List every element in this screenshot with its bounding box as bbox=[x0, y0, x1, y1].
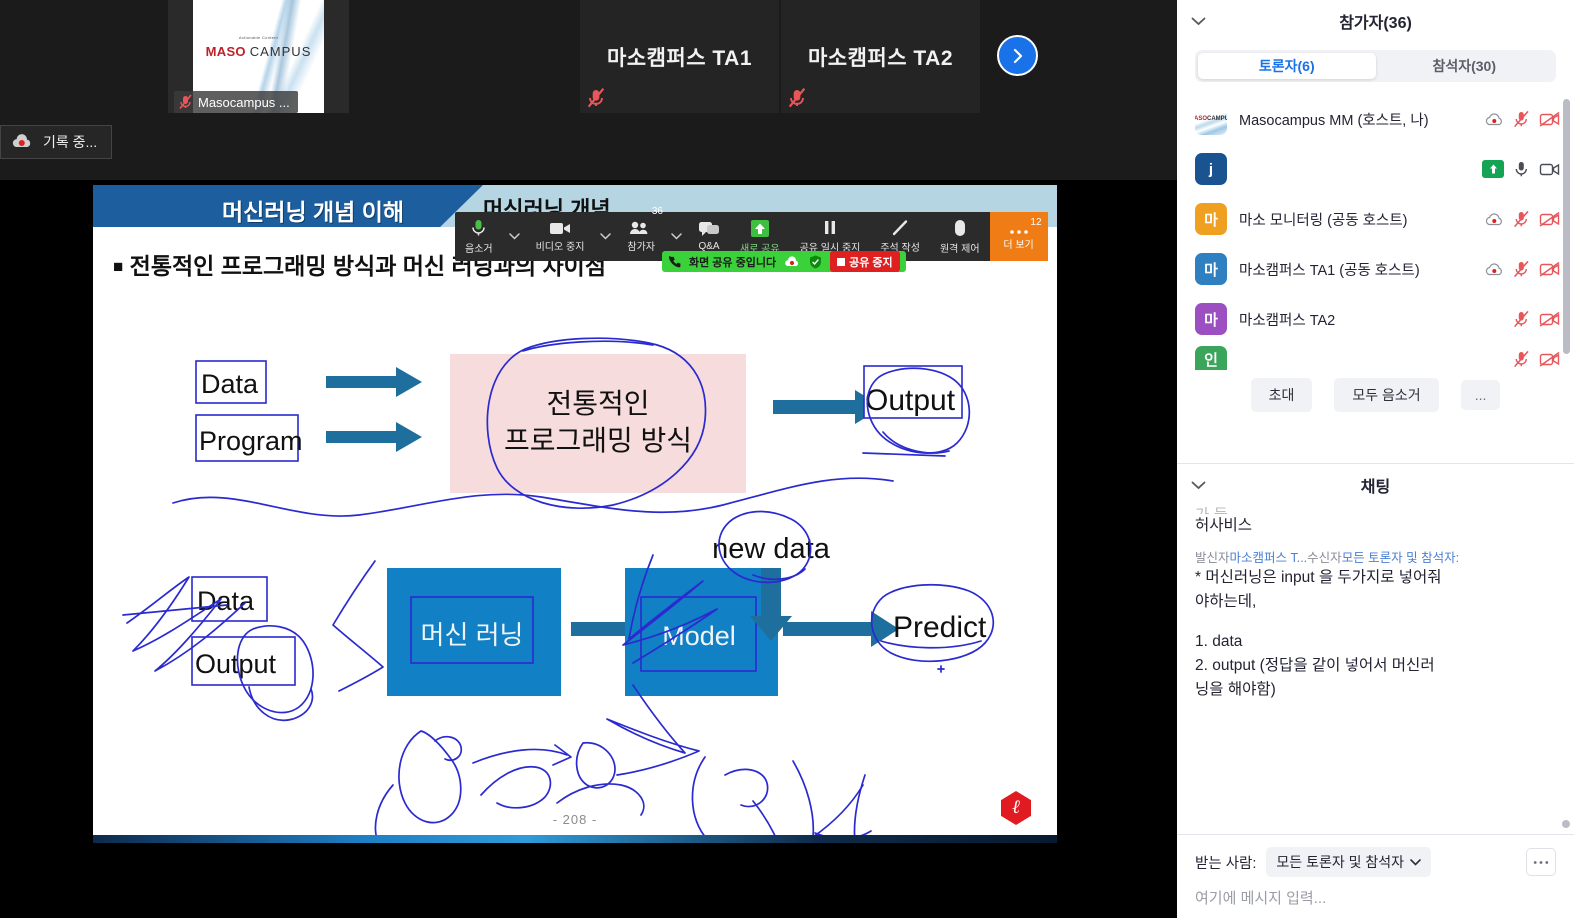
video-tile-ta1[interactable]: 마소캠퍼스 TA1 bbox=[580, 0, 779, 113]
share-status-text: 화면 공유 중입니다 bbox=[689, 254, 776, 270]
stop-share-label: 공유 중지 bbox=[849, 254, 893, 270]
chat-scrollbar[interactable] bbox=[1562, 820, 1570, 828]
microphone-icon bbox=[470, 218, 487, 238]
camera-icon[interactable] bbox=[1539, 161, 1560, 177]
participants-list[interactable]: MASOCAMPUS Masocampus MM (호스트, 나) bbox=[1177, 94, 1574, 370]
participant-name: 마소캠퍼스 TA2 bbox=[1239, 309, 1501, 330]
chat-recipient-dropdown[interactable]: 모든 토론자 및 참석자 bbox=[1266, 847, 1431, 877]
svg-text:Data: Data bbox=[201, 369, 259, 399]
chevron-down-icon bbox=[1191, 481, 1206, 490]
ellipsis-icon bbox=[1533, 860, 1549, 865]
video-tile-name: Masocampus ... bbox=[198, 95, 290, 110]
avatar-initial: 마 bbox=[1204, 209, 1218, 230]
mic-muted-icon bbox=[787, 87, 807, 109]
camera-off-icon[interactable] bbox=[1539, 211, 1560, 227]
chat-body-line-1: * 머신러닝은 input 을 두가지로 넣어줘 bbox=[1195, 566, 1556, 590]
mic-muted-icon[interactable] bbox=[1513, 310, 1530, 328]
chat-body-line-2: 야하는데, bbox=[1195, 590, 1556, 614]
video-filmstrip: Actionable Content MASO CAMPUS Masocampu… bbox=[0, 0, 1177, 180]
zoom-meeting-window: Actionable Content MASO CAMPUS Masocampu… bbox=[0, 0, 1574, 918]
screen-share-status-bar: 화면 공유 중입니다 공유 중지 bbox=[662, 251, 906, 272]
shared-slide: 머신러닝 개념 이해 머신러닝 개념 ■ 전통적인 프로그래밍 방식과 머신 러… bbox=[93, 185, 1057, 843]
chat-clipped-line: 가 들 bbox=[1195, 506, 1556, 514]
participants-tabs: 토론자(6) 참석자(30) bbox=[1195, 50, 1556, 82]
chat-collapse-button[interactable] bbox=[1191, 477, 1206, 495]
video-tile-name: 마소캠퍼스 TA2 bbox=[808, 42, 953, 72]
logo-wordmark: MASO CAMPUS bbox=[193, 44, 324, 59]
svg-text:프로그래밍 방식: 프로그래밍 방식 bbox=[504, 425, 692, 456]
stop-share-button[interactable]: 공유 중지 bbox=[830, 251, 900, 272]
meeting-area: Actionable Content MASO CAMPUS Masocampu… bbox=[0, 0, 1177, 918]
svg-text:Model: Model bbox=[662, 621, 736, 651]
participants-more-button[interactable]: ... bbox=[1461, 380, 1501, 410]
svg-text:Output: Output bbox=[195, 649, 277, 679]
toolbar-label: 원격 제어 bbox=[940, 240, 980, 255]
chat-more-button[interactable] bbox=[1526, 848, 1556, 876]
toolbar-label: 참가자 bbox=[627, 238, 655, 253]
chevron-down-icon bbox=[1410, 859, 1421, 866]
ellipsis-icon bbox=[1008, 228, 1030, 236]
filmstrip-next-button[interactable] bbox=[997, 35, 1038, 76]
chat-message: 허사비스 bbox=[1195, 514, 1556, 538]
participant-icons bbox=[1513, 310, 1560, 328]
chat-message-list[interactable]: 가 들 허사비스 발신자마소캠퍼스 T...수신자모든 토론자 및 참석자: *… bbox=[1177, 506, 1574, 834]
shield-icon bbox=[809, 255, 822, 269]
mute-all-button[interactable]: 모두 음소거 bbox=[1334, 378, 1438, 412]
avatar-initial: j bbox=[1209, 161, 1213, 178]
participant-row[interactable]: 마 마소캠퍼스 TA2 bbox=[1177, 294, 1574, 344]
mic-muted-icon[interactable] bbox=[1513, 110, 1530, 128]
video-tile-self[interactable]: Actionable Content MASO CAMPUS Masocampu… bbox=[168, 0, 349, 113]
invite-button[interactable]: 초대 bbox=[1251, 378, 1313, 412]
mouse-icon bbox=[953, 219, 967, 238]
mic-muted-icon bbox=[586, 87, 606, 109]
avatar: 마 bbox=[1195, 253, 1227, 285]
svg-text:Predict: Predict bbox=[893, 611, 987, 644]
chevron-down-icon bbox=[509, 233, 520, 240]
mic-icon[interactable] bbox=[1513, 160, 1530, 178]
chat-input[interactable]: 여기에 메시지 입력... bbox=[1195, 887, 1556, 908]
phone-icon bbox=[668, 255, 681, 268]
side-panel: 참가자(36) 토론자(6) 참석자(30) MASOCAMPUS Masoca… bbox=[1177, 0, 1574, 918]
cloud-record-icon bbox=[784, 255, 801, 268]
camera-off-icon[interactable] bbox=[1539, 111, 1560, 127]
participants-header: 참가자(36) bbox=[1177, 0, 1574, 42]
toolbar-remote-control-button[interactable]: 원격 제어 bbox=[930, 212, 990, 261]
participant-icons bbox=[1485, 210, 1560, 228]
video-tile-namebar: Masocampus ... bbox=[174, 91, 298, 113]
slide-diagram: Data Program 전통적인 프로그래밍 방식 Output bbox=[93, 185, 1057, 843]
participant-row[interactable]: 인 bbox=[1177, 344, 1574, 370]
participant-name: 마소캠퍼스 TA1 (공동 호스트) bbox=[1239, 259, 1473, 280]
avatar: 마 bbox=[1195, 203, 1227, 235]
participants-title: 참가자(36) bbox=[1339, 9, 1412, 33]
participants-panel: 참가자(36) 토론자(6) 참석자(30) MASOCAMPUS Masoca… bbox=[1177, 0, 1574, 463]
avatar: MASOCAMPUS bbox=[1195, 103, 1227, 135]
recording-indicator[interactable]: 기록 중... bbox=[0, 125, 112, 159]
toolbar-label: 비디오 중지 bbox=[536, 238, 585, 253]
toolbar-label: 음소거 bbox=[465, 240, 493, 255]
toolbar-participants-button[interactable]: 36 참가자 bbox=[617, 212, 665, 261]
avatar: 인 bbox=[1195, 346, 1227, 370]
chat-body-spacer bbox=[1195, 614, 1556, 630]
mic-muted-icon[interactable] bbox=[1513, 350, 1530, 368]
chat-body-line-5: 닝을 해야함) bbox=[1195, 678, 1556, 702]
chat-message-meta: 발신자마소캠퍼스 T...수신자모든 토론자 및 참석자: bbox=[1195, 550, 1556, 566]
chat-title: 채팅 bbox=[1361, 473, 1390, 497]
participant-icons bbox=[1513, 350, 1560, 368]
tab-attendees[interactable]: 참석자(30) bbox=[1376, 53, 1554, 79]
participant-name: Masocampus MM (호스트, 나) bbox=[1239, 109, 1473, 130]
participant-icons bbox=[1485, 260, 1560, 278]
video-tile-ta2[interactable]: 마소캠퍼스 TA2 bbox=[781, 0, 980, 113]
svg-text:Output: Output bbox=[865, 384, 956, 417]
slide-bottom-strip bbox=[93, 835, 1057, 843]
svg-text:머신 러닝: 머신 러닝 bbox=[421, 620, 524, 650]
chat-header: 채팅 bbox=[1177, 464, 1574, 506]
participant-row[interactable]: j bbox=[1177, 144, 1574, 194]
participant-icons bbox=[1482, 160, 1560, 178]
cloud-record-icon[interactable] bbox=[1485, 112, 1504, 127]
participant-row[interactable]: 마 마소 모니터링 (공동 호스트) bbox=[1177, 194, 1574, 244]
chat-to-label: 받는 사람: bbox=[1195, 852, 1256, 873]
logo-tagline: Actionable Content bbox=[193, 35, 324, 40]
up-arrow-icon bbox=[1488, 163, 1499, 175]
participant-icons bbox=[1485, 110, 1560, 128]
toolbar-mute-button[interactable]: 음소거 bbox=[455, 212, 503, 261]
participants-count-badge: 36 bbox=[652, 206, 663, 217]
svg-text:전통적인: 전통적인 bbox=[546, 388, 649, 419]
toolbar-stop-video-button[interactable]: 비디오 중지 bbox=[526, 212, 595, 261]
participants-icon bbox=[629, 220, 653, 236]
svg-text:Data: Data bbox=[197, 586, 255, 616]
cloud-record-icon bbox=[11, 132, 33, 152]
avatar-initial: 인 bbox=[1204, 349, 1218, 370]
participants-collapse-button[interactable] bbox=[1191, 13, 1206, 31]
chat-body-line-4: 2. output (정답을 같이 넣어서 머신러 bbox=[1195, 654, 1556, 678]
avatar-initial: 마 bbox=[1204, 259, 1218, 280]
chevron-down-icon bbox=[1191, 17, 1206, 26]
pencil-icon bbox=[891, 219, 909, 237]
avatar-initial: 마 bbox=[1204, 309, 1218, 330]
camera-off-icon[interactable] bbox=[1539, 351, 1560, 367]
recording-label: 기록 중... bbox=[43, 132, 97, 152]
qa-bubble-icon bbox=[698, 221, 720, 239]
toolbar-video-caret[interactable] bbox=[594, 212, 617, 261]
chat-recipient-row: 받는 사람: 모든 토론자 및 참석자 bbox=[1195, 847, 1556, 877]
chat-meta-sender-label: 발신자 bbox=[1195, 551, 1230, 565]
video-camera-icon bbox=[549, 220, 571, 236]
tab-panelists[interactable]: 토론자(6) bbox=[1198, 53, 1376, 79]
pause-icon bbox=[822, 219, 838, 237]
participant-row[interactable]: MASOCAMPUS Masocampus MM (호스트, 나) bbox=[1177, 94, 1574, 144]
participant-name: 마소 모니터링 (공동 호스트) bbox=[1239, 209, 1473, 230]
toolbar-mute-caret[interactable] bbox=[503, 212, 526, 261]
avatar: 마 bbox=[1195, 303, 1227, 335]
camera-off-icon[interactable] bbox=[1539, 261, 1560, 277]
chat-footer: 받는 사람: 모든 토론자 및 참석자 bbox=[1177, 834, 1574, 918]
avatar-logo-text: MASOCAMPUS bbox=[1195, 116, 1227, 122]
more-badge: 12 bbox=[1030, 217, 1041, 228]
svg-text:Program: Program bbox=[199, 426, 303, 456]
cloud-record-icon[interactable] bbox=[1485, 262, 1504, 277]
toolbar-more-button[interactable]: 12 더 보기 bbox=[990, 212, 1048, 261]
participants-actions: 초대 모두 음소거 ... bbox=[1177, 370, 1574, 424]
mic-muted-icon[interactable] bbox=[1513, 210, 1530, 228]
chat-body-line-3: 1. data bbox=[1195, 630, 1556, 654]
video-tile-name: 마소캠퍼스 TA1 bbox=[607, 42, 752, 72]
chat-meta-receiver-name: 모든 토론자 및 참석자: bbox=[1342, 551, 1459, 565]
cloud-record-icon[interactable] bbox=[1485, 212, 1504, 227]
toolbar-label: 더 보기 bbox=[1003, 236, 1033, 251]
mic-muted-icon[interactable] bbox=[1513, 260, 1530, 278]
slide-page-number: - 208 - bbox=[93, 812, 1057, 827]
stop-square-icon bbox=[837, 258, 845, 266]
camera-off-icon[interactable] bbox=[1539, 311, 1560, 327]
chat-meta-receiver-label: 수신자 bbox=[1307, 551, 1342, 565]
chevron-down-icon bbox=[671, 233, 682, 240]
avatar: j bbox=[1195, 153, 1227, 185]
mic-muted-icon bbox=[178, 94, 193, 110]
participant-row[interactable]: 마 마소캠퍼스 TA1 (공동 호스트) bbox=[1177, 244, 1574, 294]
chevron-down-icon bbox=[600, 233, 611, 240]
share-up-arrow-icon bbox=[750, 219, 770, 238]
chat-recipient-value: 모든 토론자 및 참석자 bbox=[1276, 852, 1404, 872]
chat-meta-sender-name: 마소캠퍼스 T... bbox=[1230, 551, 1308, 565]
svg-text:new data: new data bbox=[712, 533, 831, 565]
chevron-right-icon bbox=[1010, 48, 1026, 64]
raise-hand-icon[interactable] bbox=[1482, 160, 1504, 178]
chat-panel: 채팅 가 들 허사비스 발신자마소캠퍼스 T...수신자모든 토론자 및 참석자… bbox=[1177, 463, 1574, 918]
participants-scrollbar[interactable] bbox=[1563, 99, 1570, 354]
